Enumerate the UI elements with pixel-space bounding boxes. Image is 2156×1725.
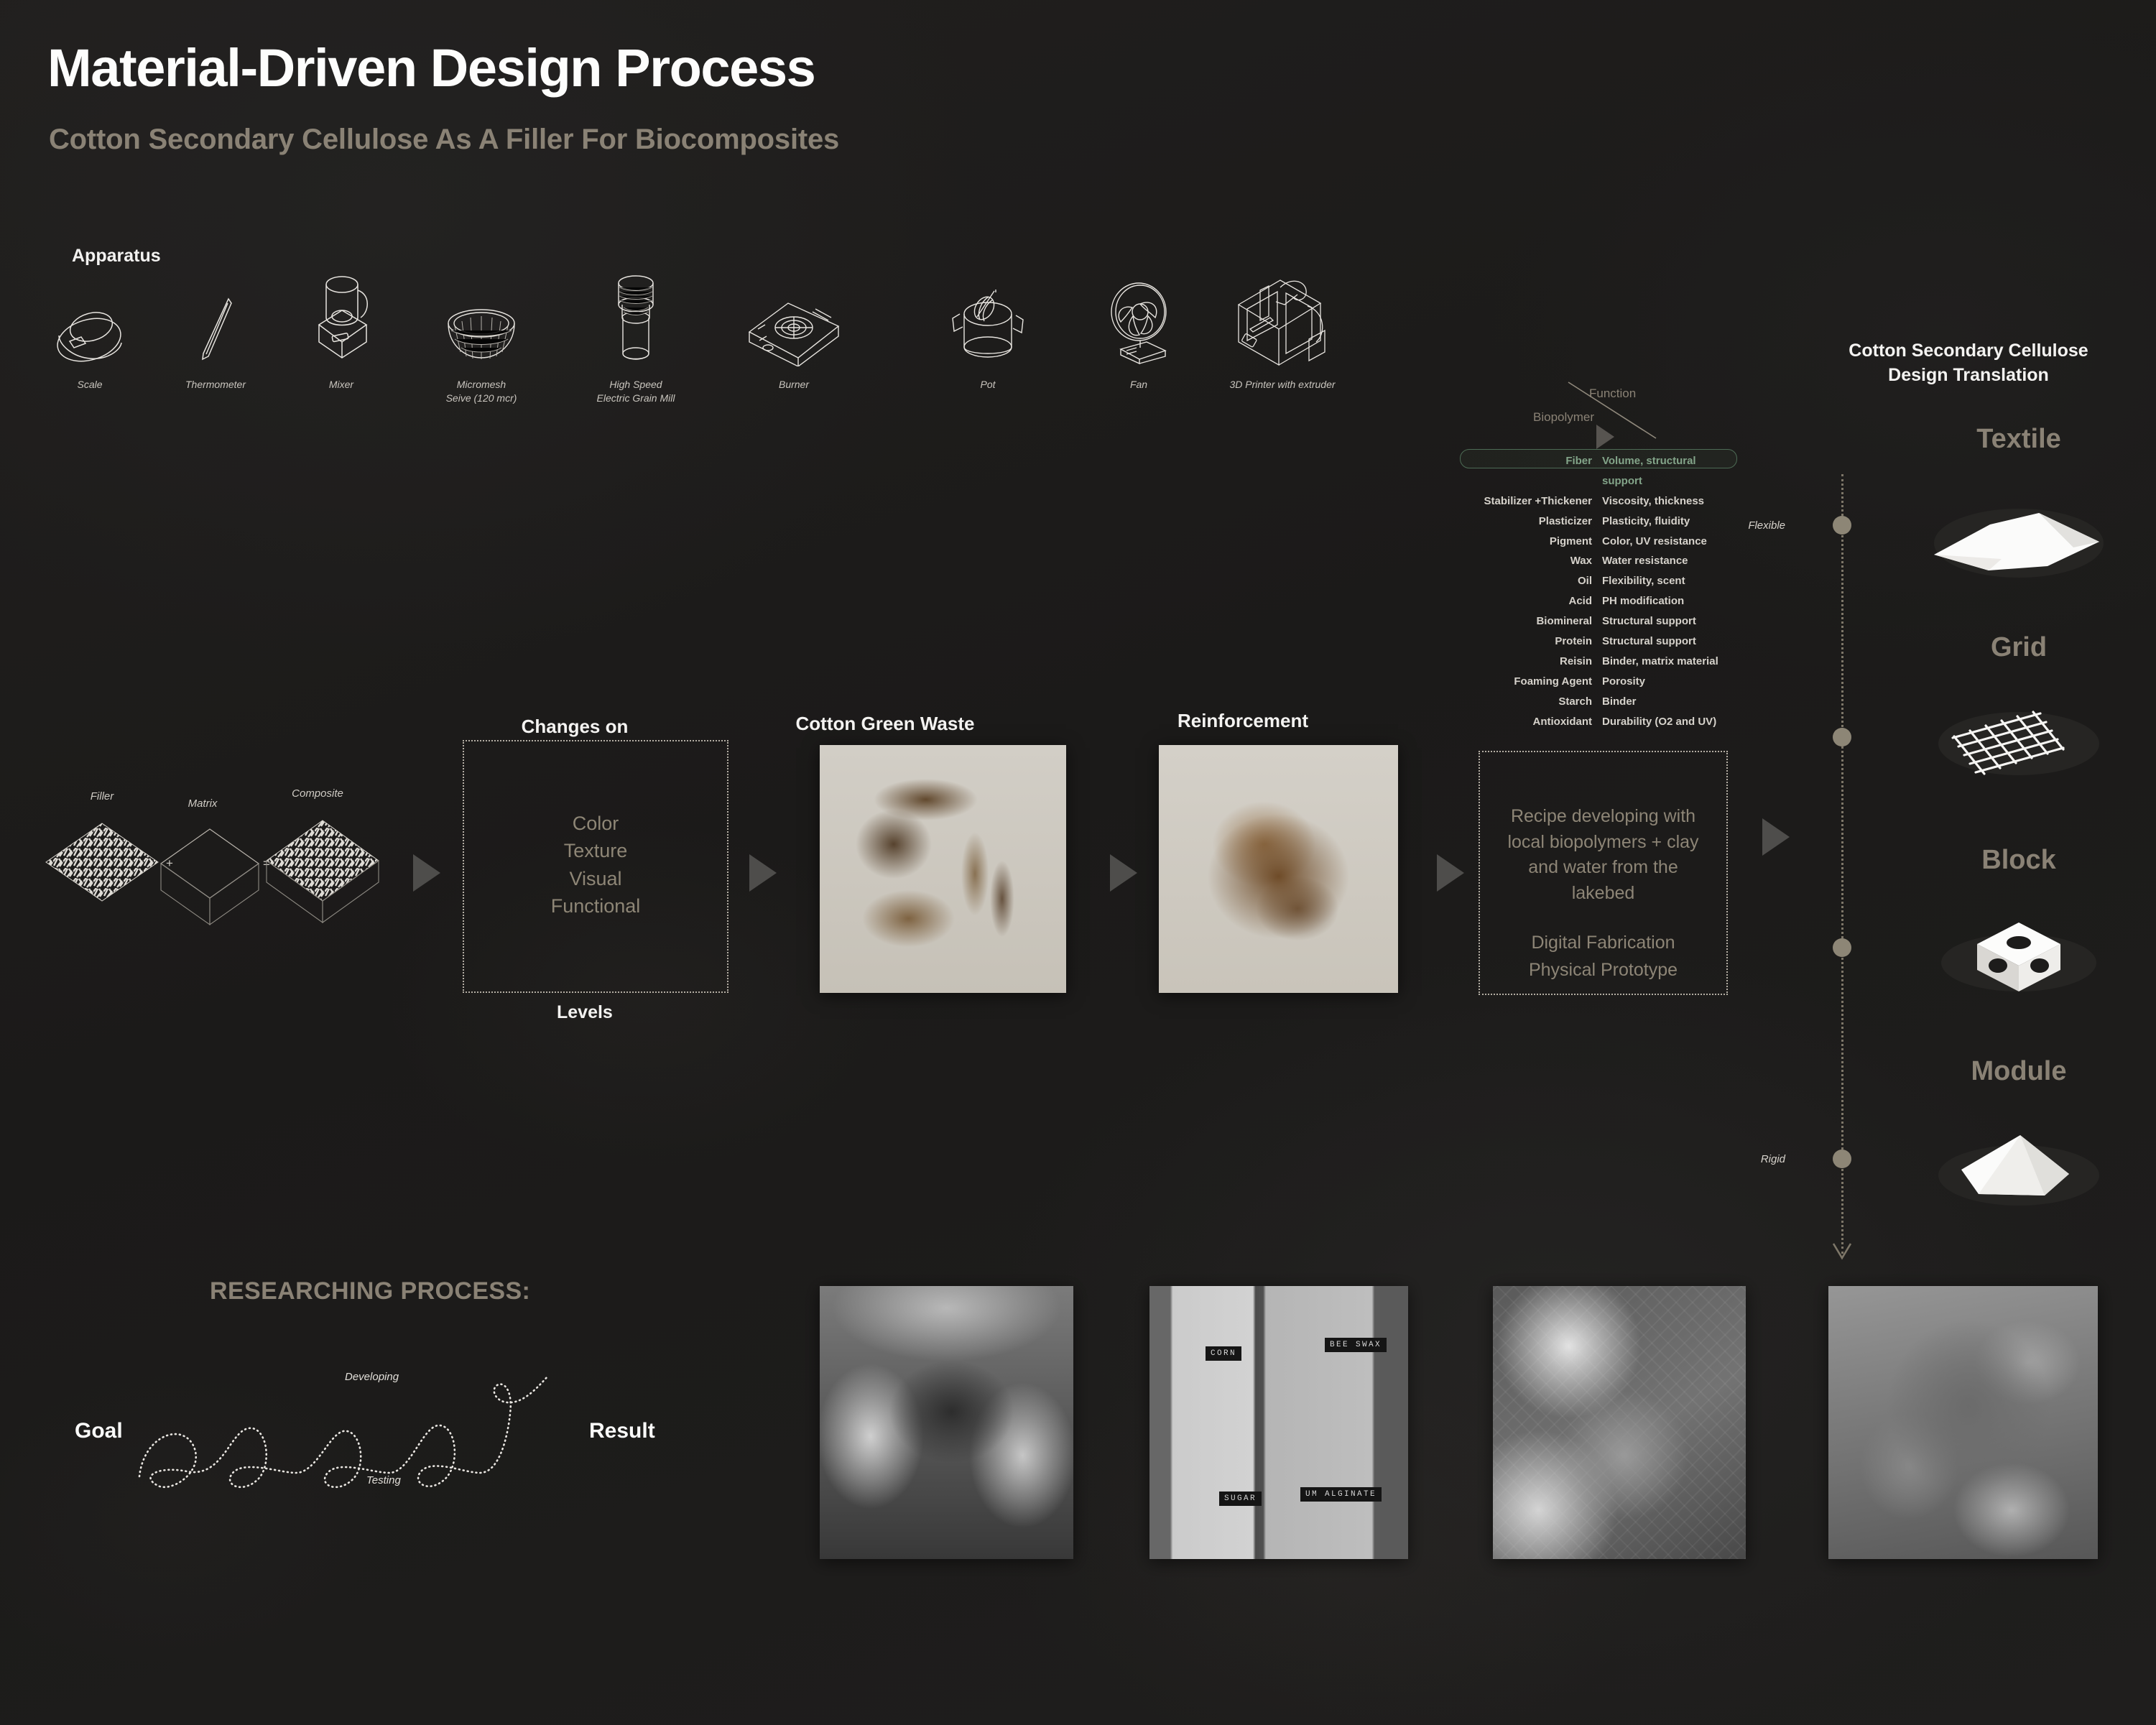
matrix-cell-biopolymer: Stabilizer +Thickener bbox=[1466, 491, 1602, 512]
matrix-row: AntioxidantDurability (O2 and UV) bbox=[1466, 712, 1736, 732]
apparatus-item-pot: Pot bbox=[920, 273, 1056, 392]
apparatus-item-fan: Fan bbox=[1070, 273, 1207, 392]
recipe-line-a: Digital Fabrication bbox=[1494, 930, 1712, 956]
apparatus-label: 3D Printer with extruder bbox=[1214, 378, 1351, 392]
matrix-row: ProteinStructural support bbox=[1466, 632, 1736, 652]
page-title: Material-Driven Design Process bbox=[47, 37, 815, 98]
matrix-cell-biopolymer: Protein bbox=[1466, 632, 1602, 652]
blender-mixer-icon bbox=[273, 273, 410, 366]
changes-on-item: Functional bbox=[464, 892, 727, 920]
apparatus-item-mixer: Mixer bbox=[273, 273, 410, 392]
matrix-cell-function: Flexibility, scent bbox=[1602, 571, 1736, 591]
timeline-dot-3 bbox=[1833, 938, 1851, 957]
matrix-cell-function: Porosity bbox=[1602, 672, 1736, 692]
scale-label-flexible: Flexible bbox=[1748, 519, 1785, 532]
translation-label-block: Block bbox=[1897, 845, 2141, 876]
reinforcement-title: Reinforcement bbox=[1092, 710, 1394, 732]
translation-label-module: Module bbox=[1897, 1056, 2141, 1087]
matrix-row: WaxWater resistance bbox=[1466, 551, 1736, 571]
apparatus-item-thermometer: Thermometer bbox=[147, 273, 284, 392]
reinforcement-photo bbox=[1159, 745, 1398, 993]
matrix-cell-biopolymer: Plasticizer bbox=[1466, 512, 1602, 532]
matrix-cell-biopolymer: Antioxidant bbox=[1466, 712, 1602, 732]
matrix-cell-biopolymer: Foaming Agent bbox=[1466, 672, 1602, 692]
matrix-row: PigmentColor, UV resistance bbox=[1466, 532, 1736, 552]
thermometer-icon bbox=[147, 273, 284, 366]
recipe-box: Recipe developing with local biopolymers… bbox=[1479, 751, 1728, 995]
kitchen-scale-icon bbox=[22, 273, 158, 366]
timeline-dot-2 bbox=[1833, 728, 1851, 746]
changes-on-item: Texture bbox=[464, 837, 727, 864]
apparatus-label: Mixer bbox=[273, 378, 410, 392]
matrix-row: AcidPH modification bbox=[1466, 591, 1736, 611]
matrix-row: Foaming AgentPorosity bbox=[1466, 672, 1736, 692]
apparatus-section-title: Apparatus bbox=[72, 246, 161, 267]
timeline-dot-rigid bbox=[1833, 1150, 1851, 1168]
jar-label-sugar: SUGAR bbox=[1219, 1492, 1262, 1506]
matrix-axis-label-function: Function bbox=[1589, 387, 1636, 401]
research-squiggle-icon bbox=[137, 1365, 603, 1509]
matrix-cell-biopolymer: Fiber bbox=[1466, 451, 1602, 491]
goal-label: Goal bbox=[75, 1419, 123, 1443]
sieve-icon bbox=[413, 273, 550, 366]
apparatus-label: Fan bbox=[1070, 378, 1207, 392]
timeline-dot-flexible bbox=[1833, 516, 1851, 535]
timeline-arrowhead-icon bbox=[1831, 1239, 1854, 1268]
matrix-axis-label-biopolymer: Biopolymer bbox=[1533, 410, 1594, 425]
jar-label-beeswax: BEE SWAX bbox=[1325, 1338, 1387, 1352]
stove-burner-icon bbox=[726, 273, 862, 366]
apparatus-item-3d-printer-with-extruder: 3D Printer with extruder bbox=[1214, 273, 1351, 392]
jar-label-alginate: UM ALGINATE bbox=[1300, 1487, 1382, 1502]
matrix-cell-biopolymer: Biomineral bbox=[1466, 611, 1602, 632]
flex-rigid-timeline bbox=[1841, 474, 1843, 1254]
composite-label: Composite bbox=[267, 787, 368, 800]
matrix-arrow-icon bbox=[1596, 425, 1614, 449]
matrix-cell-function: Volume, structural support bbox=[1602, 451, 1736, 491]
cotton-green-waste-title: Cotton Green Waste bbox=[734, 713, 1036, 735]
apparatus-label: Pot bbox=[920, 378, 1056, 392]
matrix-row: PlasticizerPlasticity, fluidity bbox=[1466, 512, 1736, 532]
process-arrow-3-icon bbox=[1110, 854, 1137, 892]
changes-on-item: Color bbox=[464, 810, 727, 837]
matrix-row: BiomineralStructural support bbox=[1466, 611, 1736, 632]
fan-icon bbox=[1070, 273, 1207, 366]
matrix-cell-function: Durability (O2 and UV) bbox=[1602, 712, 1736, 732]
matrix-row: FiberVolume, structural support bbox=[1466, 451, 1736, 491]
matrix-cell-function: Structural support bbox=[1602, 611, 1736, 632]
scale-label-rigid: Rigid bbox=[1761, 1153, 1785, 1165]
biopolymer-function-matrix: Function Biopolymer FiberVolume, structu… bbox=[1466, 381, 1767, 690]
matrix-cell-biopolymer: Acid bbox=[1466, 591, 1602, 611]
perforated-cube-icon bbox=[1904, 907, 2134, 1000]
design-translation-title: Cotton Secondary Cellulose Design Transl… bbox=[1818, 339, 2119, 388]
apparatus-label: Burner bbox=[726, 378, 862, 392]
matrix-cell-function: Viscosity, thickness bbox=[1602, 491, 1736, 512]
apparatus-label: Thermometer bbox=[147, 378, 284, 392]
apparatus-label: High Speed Electric Grain Mill bbox=[568, 378, 704, 405]
cotton-green-waste-photo bbox=[820, 745, 1066, 993]
matrix-cell-function: Water resistance bbox=[1602, 551, 1736, 571]
matrix-row: ReisinBinder, matrix material bbox=[1466, 652, 1736, 672]
matrix-cell-function: Structural support bbox=[1602, 632, 1736, 652]
matrix-cell-biopolymer: Starch bbox=[1466, 692, 1602, 712]
grain-mill-icon bbox=[568, 273, 704, 366]
matrix-cell-biopolymer: Pigment bbox=[1466, 532, 1602, 552]
changes-on-title: Changes on bbox=[460, 716, 690, 738]
translation-label-textile: Textile bbox=[1897, 424, 2141, 455]
biopolymer-jars-photo: CORN BEE SWAX SUGAR UM ALGINATE bbox=[1149, 1286, 1408, 1559]
poster-canvas: Material-Driven Design Process Cotton Se… bbox=[0, 0, 2156, 1725]
matrix-cell-biopolymer: Wax bbox=[1466, 551, 1602, 571]
apparatus-item-burner: Burner bbox=[726, 273, 862, 392]
matrix-rows: FiberVolume, structural supportStabilize… bbox=[1466, 451, 1736, 731]
folded-sheet-icon bbox=[1904, 489, 2134, 582]
process-arrow-2-icon bbox=[749, 854, 777, 892]
apparatus-item-micromesh-seive-120-mcr: Micromesh Seive (120 mcr) bbox=[413, 273, 550, 405]
matrix-cell-function: Binder bbox=[1602, 692, 1736, 712]
matrix-cell-function: Color, UV resistance bbox=[1602, 532, 1736, 552]
recipe-paragraph: Recipe developing with local biopolymers… bbox=[1500, 804, 1706, 906]
recipe-line-b: Physical Prototype bbox=[1494, 958, 1712, 984]
matrix-cell-function: Plasticity, fluidity bbox=[1602, 512, 1736, 532]
process-arrow-4-icon bbox=[1437, 854, 1464, 892]
levels-label: Levels bbox=[557, 1002, 613, 1023]
lattice-grid-icon bbox=[1904, 693, 2134, 787]
translation-label-grid: Grid bbox=[1897, 632, 2141, 663]
faceted-polyhedron-icon bbox=[1904, 1118, 2134, 1211]
matrix-cell-biopolymer: Oil bbox=[1466, 571, 1602, 591]
milled-cellulose-in-hands-photo bbox=[820, 1286, 1073, 1559]
filler-label: Filler bbox=[59, 790, 145, 803]
matrix-row: Stabilizer +ThickenerViscosity, thicknes… bbox=[1466, 491, 1736, 512]
3d-printer-icon bbox=[1214, 273, 1351, 366]
weighing-powder-on-scale-photo bbox=[1493, 1286, 1746, 1559]
matrix-row: StarchBinder bbox=[1466, 692, 1736, 712]
matrix-row: OilFlexibility, scent bbox=[1466, 571, 1736, 591]
apparatus-label: Scale bbox=[22, 378, 158, 392]
matrix-cell-biopolymer: Reisin bbox=[1466, 652, 1602, 672]
pot-whisk-icon bbox=[920, 273, 1056, 366]
changes-on-list: ColorTextureVisualFunctional bbox=[464, 810, 727, 920]
changes-on-box: ColorTextureVisualFunctional bbox=[463, 740, 728, 993]
page-subtitle: Cotton Secondary Cellulose As A Filler F… bbox=[49, 124, 839, 156]
wet-biocomposite-dough-photo bbox=[1828, 1286, 2098, 1559]
researching-process-title: RESEARCHING PROCESS: bbox=[210, 1277, 530, 1305]
apparatus-item-scale: Scale bbox=[22, 273, 158, 392]
apparatus-item-high-speed-electric-grain-mill: High Speed Electric Grain Mill bbox=[568, 273, 704, 405]
jar-label-corn: CORN bbox=[1206, 1346, 1241, 1361]
composite-diagram-icon: + = bbox=[43, 808, 417, 951]
process-arrow-5-icon bbox=[1762, 818, 1790, 856]
composite-equation: Filler Matrix Composite + = bbox=[43, 790, 417, 948]
matrix-cell-function: PH modification bbox=[1602, 591, 1736, 611]
apparatus-label: Micromesh Seive (120 mcr) bbox=[413, 378, 550, 405]
changes-on-item: Visual bbox=[464, 865, 727, 892]
process-arrow-1-icon bbox=[413, 854, 440, 892]
matrix-cell-function: Binder, matrix material bbox=[1602, 652, 1736, 672]
